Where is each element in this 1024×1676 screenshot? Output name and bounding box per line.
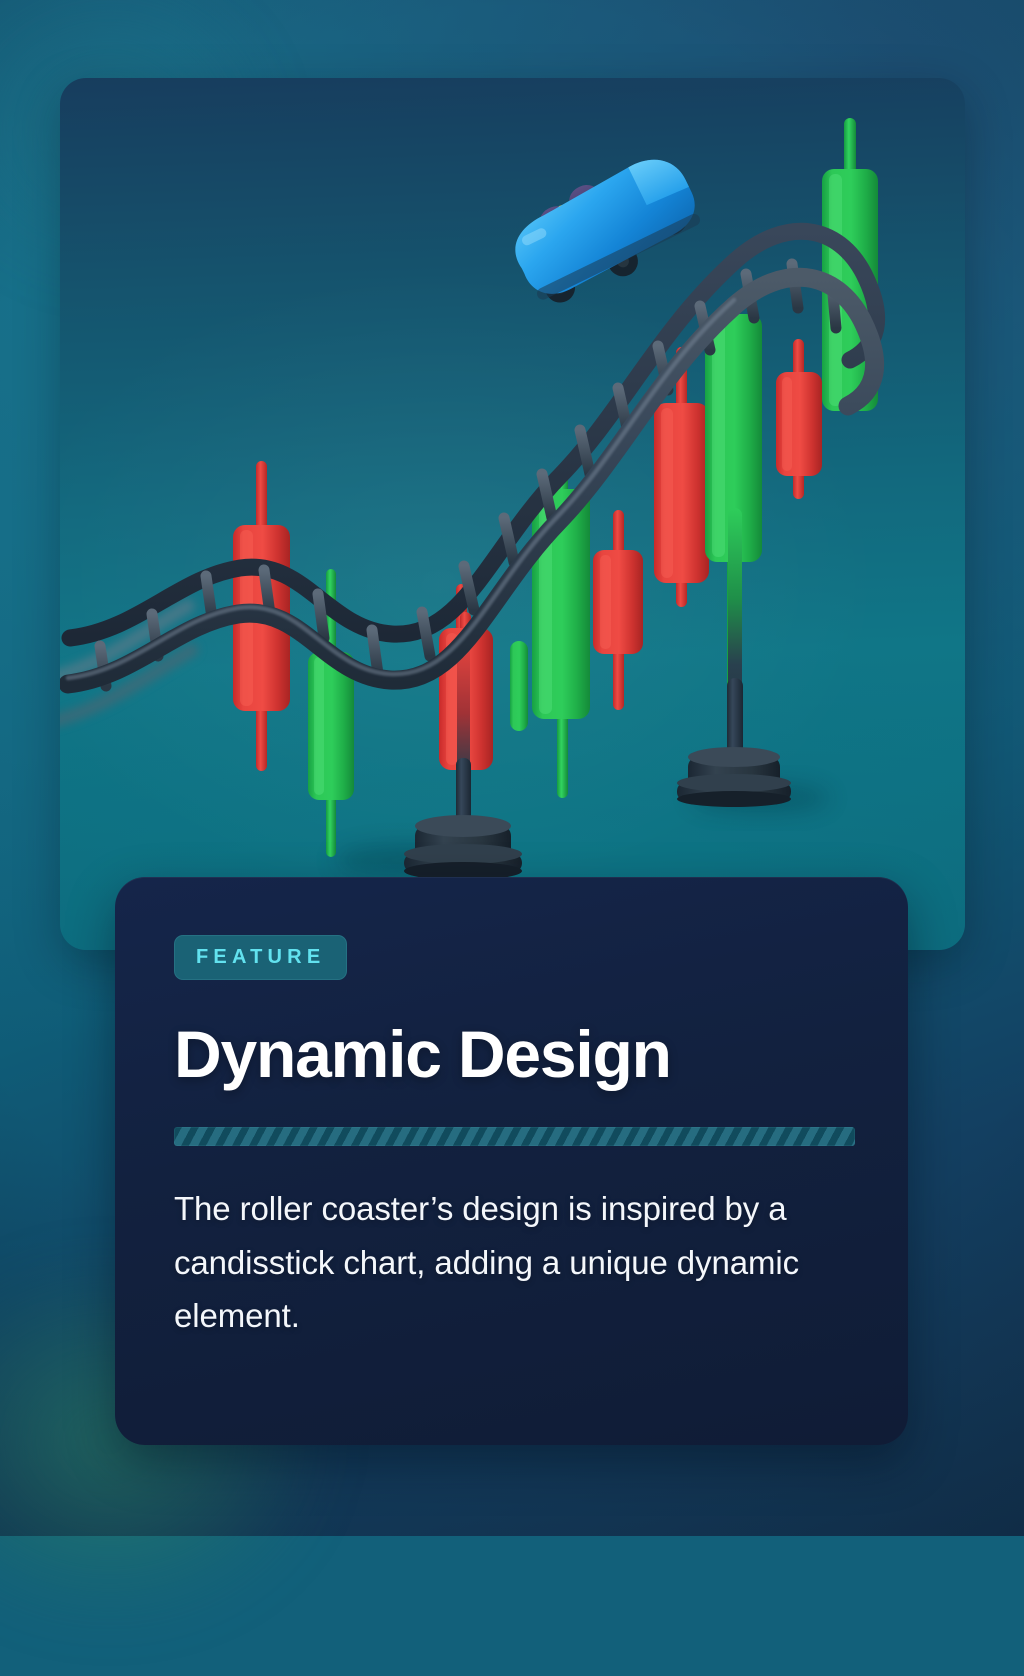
roller-coaster-car [500,144,715,322]
candle-7-bearish [593,510,643,710]
status-badge: FEATURE [174,935,347,980]
candlestick-roller-coaster-svg [60,78,965,950]
illustration-card [60,78,965,950]
illustration-stage [60,78,965,950]
body-paragraph: The roller coaster’s design is inspired … [174,1182,856,1342]
feature-text-card: FEATURE Dynamic Design The roller coaste… [115,877,908,1445]
page-title: Dynamic Design [174,1021,856,1088]
section-divider [174,1127,855,1146]
car-body [502,147,707,304]
candle-10-bearish [776,339,822,499]
candle-5-bullish [510,641,528,731]
